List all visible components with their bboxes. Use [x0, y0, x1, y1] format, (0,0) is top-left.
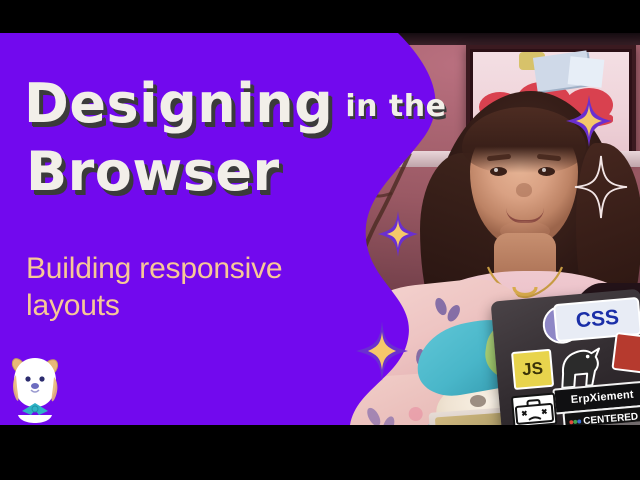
video-frame: CSS JS ErpXiement CENTERED [0, 33, 640, 425]
title-line-2: Browser [26, 145, 280, 199]
letterbox-top [0, 0, 640, 33]
sparkle-gold-mid-icon [378, 211, 418, 257]
sparkle-outline-right-icon [574, 155, 628, 219]
title-word-browser: Browser [26, 140, 280, 203]
title-word-designing: Designing [24, 72, 333, 135]
letterbox-bottom [0, 425, 640, 480]
dog-mascot-logo-icon [4, 353, 66, 423]
title-overlay-text: Designingin the Browser Building respons… [0, 33, 640, 425]
sparkle-gold-top-icon [566, 95, 612, 147]
subtitle-text: Building responsive layouts [26, 251, 356, 324]
title-line-1: Designingin the [24, 77, 446, 131]
sparkle-gold-lower-icon [356, 321, 408, 381]
video-player-stage: CSS JS ErpXiement CENTERED [0, 0, 640, 480]
title-word-in-the: in the [345, 89, 446, 124]
